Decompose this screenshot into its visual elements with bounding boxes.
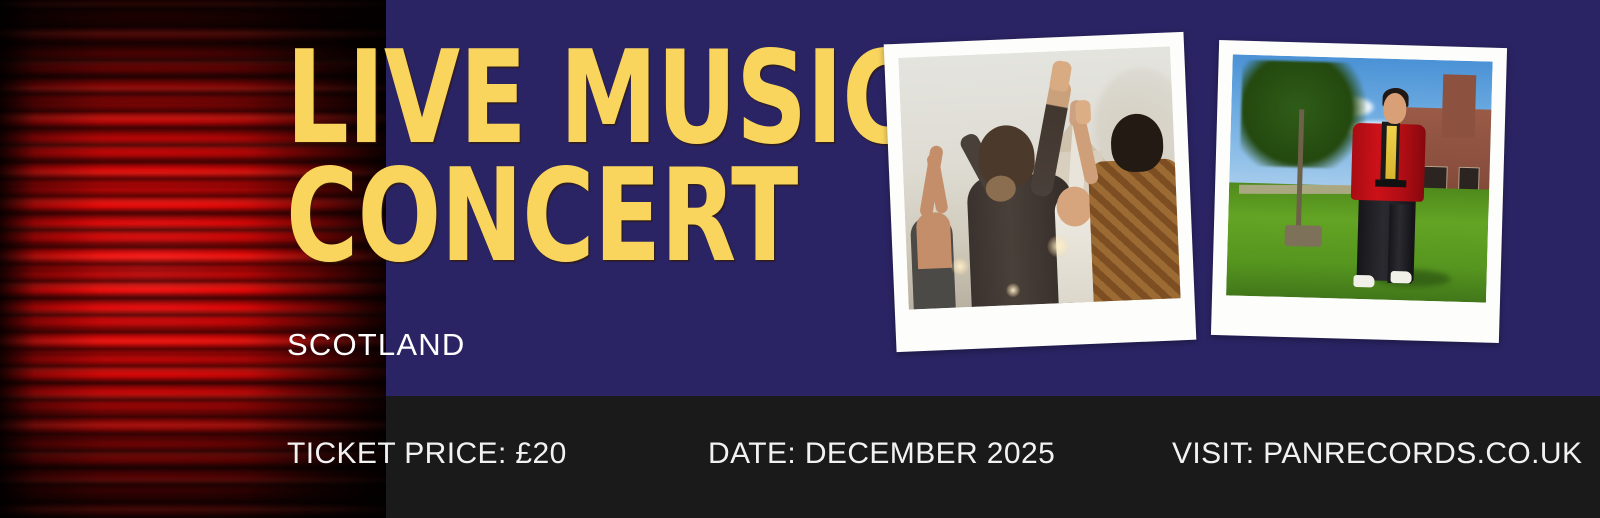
performer-castle-window-2 <box>1458 167 1479 191</box>
crowd-figure-patterned <box>1088 158 1180 302</box>
crowd-figure-left-skin <box>916 212 952 269</box>
performer-photo-frame <box>1211 40 1507 343</box>
performer-photo-image <box>1226 54 1493 302</box>
subtitle-location: SCOTLAND <box>287 327 465 363</box>
performer-tree-base <box>1285 225 1322 248</box>
crowd-hand-right <box>1076 100 1092 125</box>
crowd-photo-frame <box>884 32 1197 352</box>
crowd-photo-image <box>898 46 1180 309</box>
website-text: VISIT: PANRECORDS.CO.UK <box>1172 437 1582 471</box>
headline-block: LIVE MUSIC CONCERT <box>286 40 906 276</box>
performer-gold-tie <box>1385 126 1397 179</box>
performer-shoe-left <box>1354 275 1375 288</box>
event-date-text: DATE: DECEMBER 2025 <box>708 437 1055 471</box>
performer-shoe-right <box>1390 271 1411 284</box>
concert-banner: LIVE MUSIC CONCERT SCOTLAND <box>0 0 1600 518</box>
performer-belt <box>1375 179 1406 187</box>
crowd-light-glow-1 <box>950 257 969 276</box>
performer-castle-tower <box>1441 75 1477 139</box>
headline-line-2: CONCERT <box>286 158 763 276</box>
performer-tree-canopy <box>1240 60 1368 169</box>
ticket-price-text: TICKET PRICE: £20 <box>287 437 567 471</box>
performer-castle-window-1 <box>1422 166 1448 190</box>
headline-line-1: LIVE MUSIC <box>286 40 763 158</box>
